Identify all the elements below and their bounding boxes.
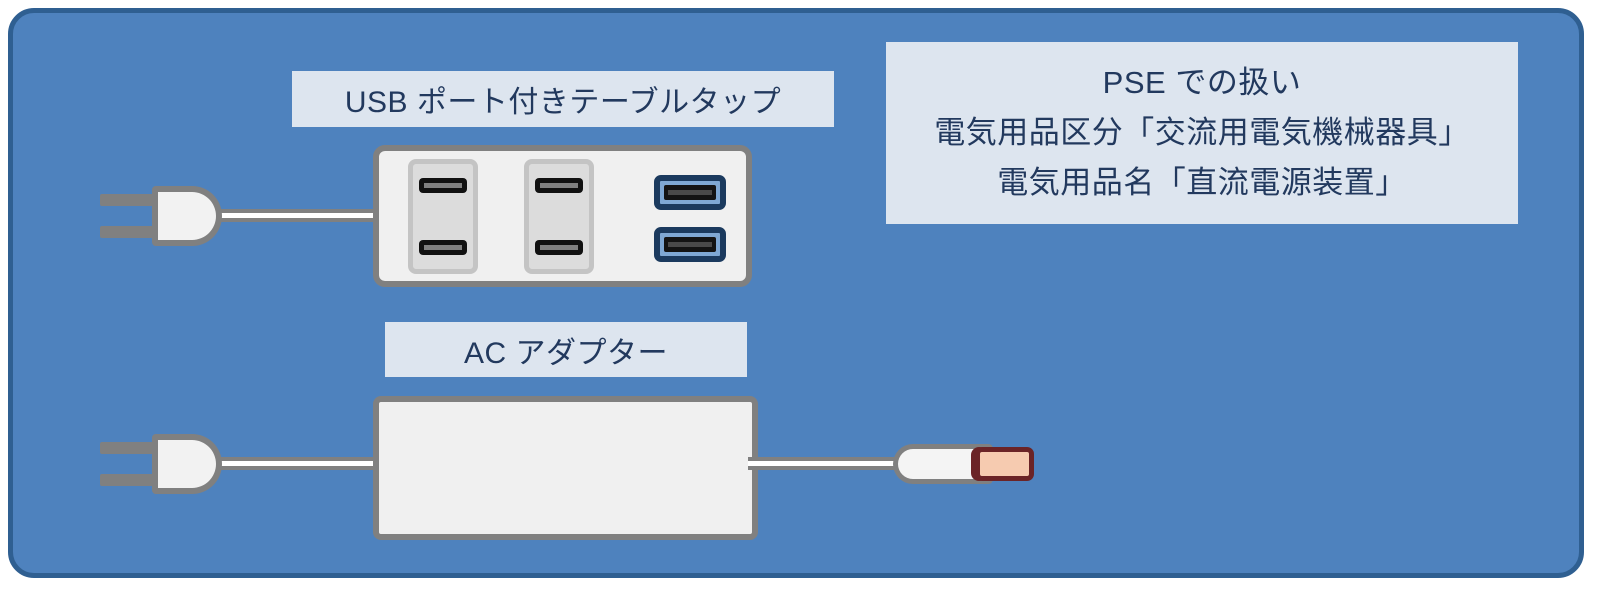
ac-outlet-right xyxy=(524,159,594,274)
caption-usb-power-strip: USB ポート付きテーブルタップ xyxy=(292,71,834,127)
ac-outlet-slot-top xyxy=(419,178,467,193)
ac-outlet-slot-bottom xyxy=(535,240,583,255)
ac-outlet-left xyxy=(408,159,478,274)
diagram-canvas: PSE での扱い 電気用品区分「交流用電気機械器具」 電気用品名「直流電源装置」… xyxy=(0,0,1600,593)
plug-body xyxy=(152,434,222,494)
usb-port-cavity xyxy=(664,185,716,200)
pse-info-panel: PSE での扱い 電気用品区分「交流用電気機械器具」 電気用品名「直流電源装置」 xyxy=(886,42,1518,224)
power-strip-ac-plug xyxy=(100,186,228,246)
pse-info-line-1: PSE での扱い xyxy=(1103,62,1302,104)
ac-adapter-brick xyxy=(373,396,758,540)
plug-prong-bottom xyxy=(100,226,158,238)
ac-outlet-slot-bottom xyxy=(419,240,467,255)
pse-info-line-2: 電気用品区分「交流用電気機械器具」 xyxy=(934,112,1470,154)
plug-prong-bottom xyxy=(100,474,158,486)
usb-port-cavity xyxy=(664,237,716,252)
usb-port-bottom xyxy=(654,227,726,262)
ac-adapter-output-cord xyxy=(748,457,908,470)
usb-port-top xyxy=(654,175,726,210)
usb-power-strip-body xyxy=(373,145,752,287)
pse-info-line-3: 電気用品名「直流電源装置」 xyxy=(997,162,1407,204)
ac-adapter-ac-plug xyxy=(100,434,228,494)
dc-barrel-plug xyxy=(893,441,1038,487)
dc-plug-barrel xyxy=(975,447,1034,481)
ac-adapter-input-cord xyxy=(205,457,385,470)
plug-body xyxy=(152,186,222,246)
plug-prong-top xyxy=(100,442,158,454)
ac-outlet-slot-top xyxy=(535,178,583,193)
power-strip-cord xyxy=(205,209,385,222)
caption-ac-adapter: AC アダプター xyxy=(385,322,747,377)
plug-prong-top xyxy=(100,194,158,206)
